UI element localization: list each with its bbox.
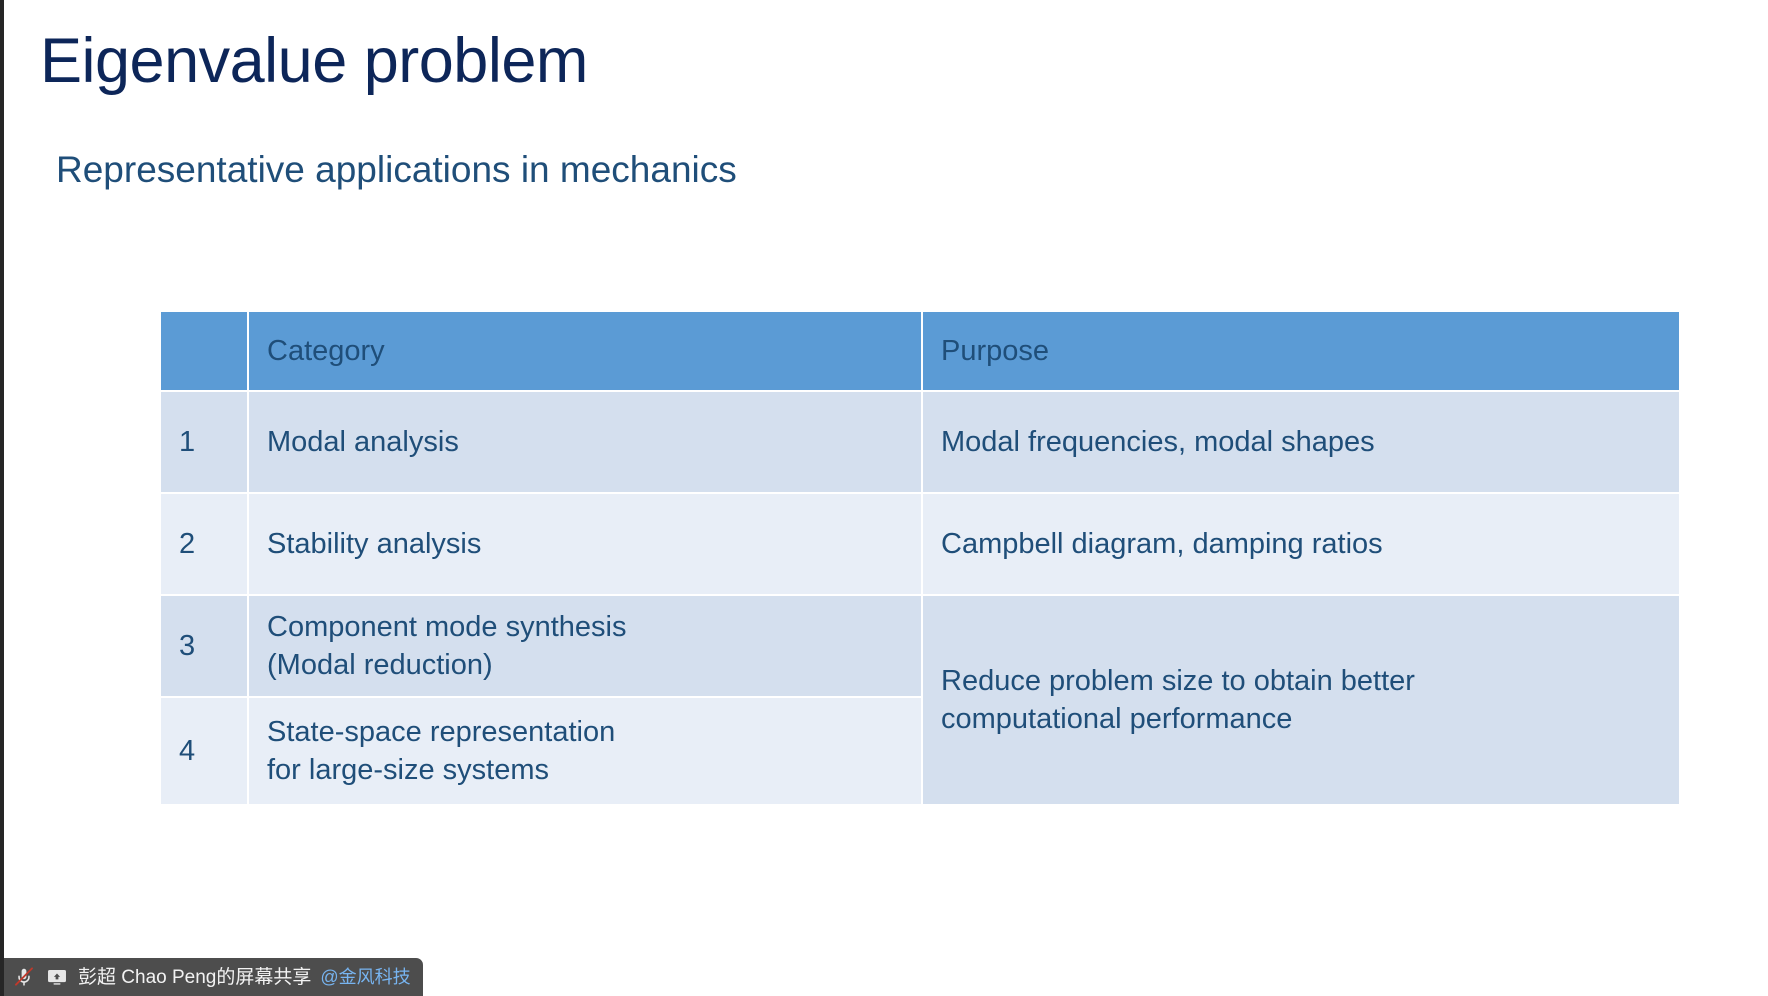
- share-status-text: 彭超 Chao Peng的屏幕共享: [78, 968, 311, 987]
- purpose-line: Campbell diagram, damping ratios: [941, 525, 1679, 563]
- column-header-category: Category: [249, 312, 921, 390]
- purpose-line: computational performance: [941, 700, 1679, 738]
- title-block: Eigenvalue problem: [40, 26, 1440, 97]
- table-header-row: Category Purpose: [161, 312, 1679, 390]
- row-category-cell: Modal analysis: [249, 392, 921, 492]
- screen-share-bar[interactable]: 彭超 Chao Peng的屏幕共享 @金风科技: [4, 958, 423, 996]
- table-row: 3 Component mode synthesis (Modal reduct…: [161, 596, 1679, 696]
- row-purpose-cell: Modal frequencies, modal shapes: [923, 392, 1679, 492]
- row-index-cell: 1: [161, 392, 247, 492]
- row-category-cell: Component mode synthesis (Modal reductio…: [249, 596, 921, 696]
- category-line: State-space representation: [267, 713, 921, 751]
- table-row: 1 Modal analysis Modal frequencies, moda…: [161, 392, 1679, 492]
- screen-share-icon[interactable]: [45, 965, 69, 989]
- page-subtitle: Representative applications in mechanics: [56, 148, 737, 192]
- microphone-muted-icon[interactable]: [12, 965, 36, 989]
- slide-canvas: Eigenvalue problem Representative applic…: [0, 0, 1768, 996]
- category-line: for large-size systems: [267, 751, 921, 789]
- table-body: 1 Modal analysis Modal frequencies, moda…: [161, 392, 1679, 804]
- row-purpose-cell: Campbell diagram, damping ratios: [923, 494, 1679, 594]
- purpose-line: Reduce problem size to obtain better: [941, 662, 1679, 700]
- row-category-cell: Stability analysis: [249, 494, 921, 594]
- applications-table: Category Purpose 1 Modal analysis Modal …: [159, 310, 1675, 802]
- table: Category Purpose 1 Modal analysis Modal …: [159, 310, 1681, 806]
- table-header: Category Purpose: [161, 312, 1679, 390]
- column-header-index: [161, 312, 247, 390]
- row-index-cell: 4: [161, 698, 247, 804]
- row-category-cell: State-space representation for large-siz…: [249, 698, 921, 804]
- page-title: Eigenvalue problem: [40, 26, 1440, 97]
- purpose-line: Modal frequencies, modal shapes: [941, 423, 1679, 461]
- category-line: Modal analysis: [267, 423, 921, 461]
- row-index-cell: 2: [161, 494, 247, 594]
- merged-purpose-cell: Reduce problem size to obtain better com…: [923, 596, 1679, 804]
- row-index-cell: 3: [161, 596, 247, 696]
- share-organization-label: @金风科技: [320, 968, 410, 986]
- category-line: Component mode synthesis: [267, 608, 921, 646]
- table-row: 2 Stability analysis Campbell diagram, d…: [161, 494, 1679, 594]
- column-header-purpose: Purpose: [923, 312, 1679, 390]
- category-line: (Modal reduction): [267, 646, 921, 684]
- category-line: Stability analysis: [267, 525, 921, 563]
